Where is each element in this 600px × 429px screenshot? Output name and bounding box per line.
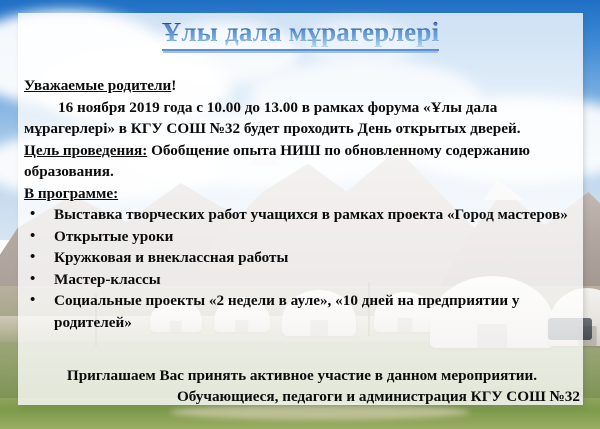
list-item: •Открытые уроки xyxy=(24,226,580,248)
poster: Ұлы дала мұрагерлері Уважаемые родители!… xyxy=(0,0,600,429)
closing-signature: Обучающиеся, педагоги и администрация КГ… xyxy=(24,386,580,407)
list-item-label: Открытые уроки xyxy=(54,228,173,245)
closing-block: Приглашаем Вас принять активное участие … xyxy=(24,365,580,407)
program-list: •Выставка творческих работ учащихся в ра… xyxy=(24,204,580,333)
salutation-exclamation: ! xyxy=(171,77,176,94)
bullet-icon: • xyxy=(30,269,35,291)
closing-invitation: Приглашаем Вас принять активное участие … xyxy=(24,365,580,386)
page-title: Ұлы дала мұрагерлері xyxy=(162,18,440,51)
program-heading: В программе: xyxy=(24,183,580,205)
bullet-icon: • xyxy=(30,226,35,248)
list-item: •Мастер-классы xyxy=(24,269,580,291)
list-item-label: Социальные проекты «2 недели в ауле», «1… xyxy=(54,292,520,331)
bullet-icon: • xyxy=(30,290,35,312)
salutation-underlined: Уважаемые родители xyxy=(24,77,171,94)
list-item-label: Выставка творческих работ учащихся в рам… xyxy=(54,206,568,223)
salutation-line: Уважаемые родители! xyxy=(24,75,580,97)
bullet-icon: • xyxy=(30,247,35,269)
list-item-label: Кружковая и внеклассная работы xyxy=(54,249,288,266)
announcement-body: Уважаемые родители! 16 ноября 2019 года … xyxy=(24,75,580,333)
title-container: Ұлы дала мұрагерлері xyxy=(18,18,583,51)
list-item-label: Мастер-классы xyxy=(54,271,161,288)
intro-paragraph: 16 ноября 2019 года с 10.00 до 13.00 в р… xyxy=(24,97,580,140)
list-item: •Выставка творческих работ учащихся в ра… xyxy=(24,204,580,226)
purpose-label: Цель проведения: xyxy=(24,142,147,159)
list-item: •Кружковая и внеклассная работы xyxy=(24,247,580,269)
list-item: •Социальные проекты «2 недели в ауле», «… xyxy=(24,290,580,333)
purpose-paragraph: Цель проведения: Обобщение опыта НИШ по … xyxy=(24,140,580,183)
program-heading-label: В программе: xyxy=(24,185,118,202)
bullet-icon: • xyxy=(30,204,35,226)
